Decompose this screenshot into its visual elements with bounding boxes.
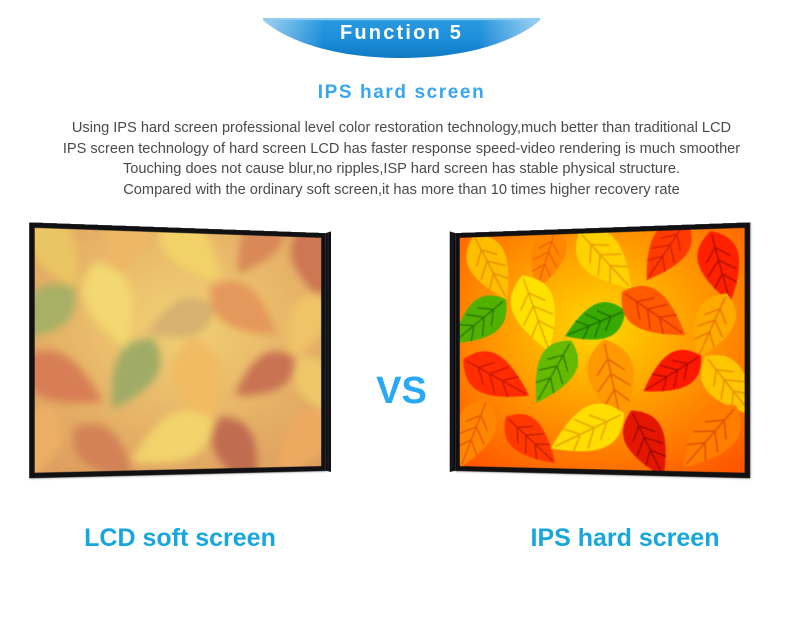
section-subtitle: IPS hard screen [0, 82, 803, 104]
monitor-screen-soft [35, 228, 321, 473]
leaves-image-sharp [460, 228, 745, 473]
monitor-panel [29, 222, 326, 478]
description-line: Compared with the ordinary soft screen,i… [0, 180, 803, 201]
vs-divider: VS [0, 370, 803, 413]
description-line: IPS screen technology of hard screen LCD… [0, 139, 803, 160]
description-line: Using IPS hard screen professional level… [0, 118, 803, 139]
description-line: Touching does not cause blur,no ripples,… [0, 159, 803, 180]
monitor-screen-hard [460, 228, 745, 473]
caption-ips-hard: IPS hard screen [480, 524, 770, 553]
monitor-panel [455, 222, 750, 478]
feature-description: Using IPS hard screen professional level… [0, 118, 803, 200]
monitor-ips-hard [455, 222, 750, 478]
monitor-bezel [455, 222, 750, 478]
monitor-depth-side [326, 231, 331, 472]
function-banner: Function 5 [0, 12, 803, 64]
monitor-depth-side [450, 231, 455, 472]
leaves-image-soft [35, 228, 321, 473]
caption-lcd-soft: LCD soft screen [35, 524, 325, 553]
banner-title: Function 5 [263, 12, 540, 54]
monitor-lcd-soft [29, 222, 326, 478]
monitor-bezel [29, 222, 326, 478]
